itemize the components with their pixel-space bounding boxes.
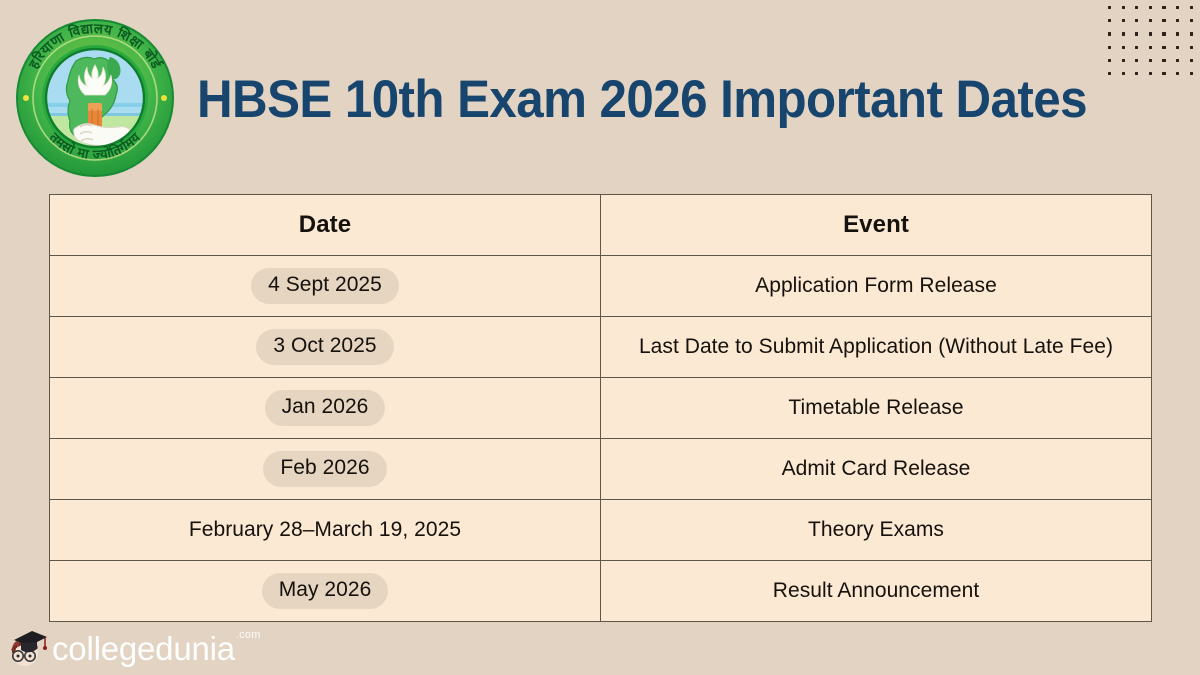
cell-event: Last Date to Submit Application (Without… <box>601 317 1152 378</box>
table-header-row: Date Event <box>50 195 1152 256</box>
cell-date: February 28–March 19, 2025 <box>50 500 601 561</box>
header: हरियाणा विद्यालय शिक्षा बोर्ड तमसो मा ज्… <box>0 0 1200 194</box>
table-row: 4 Sept 2025 Application Form Release <box>50 256 1152 317</box>
graduate-mascot-icon <box>8 626 48 668</box>
table-row: Jan 2026 Timetable Release <box>50 378 1152 439</box>
cell-event: Result Announcement <box>601 561 1152 622</box>
cell-event: Application Form Release <box>601 256 1152 317</box>
hbse-board-logo-icon: हरियाणा विद्यालय शिक्षा बोर्ड तमसो मा ज्… <box>14 17 176 179</box>
cell-date: Jan 2026 <box>50 378 601 439</box>
date-pill: 3 Oct 2025 <box>256 329 393 364</box>
cell-date: May 2026 <box>50 561 601 622</box>
date-pill: 4 Sept 2025 <box>251 268 399 303</box>
important-dates-table: Date Event 4 Sept 2025 Application Form … <box>49 194 1152 622</box>
brand-footer: collegedunia .com <box>8 624 260 670</box>
cell-event: Theory Exams <box>601 500 1152 561</box>
cell-event: Admit Card Release <box>601 439 1152 500</box>
table-body: 4 Sept 2025 Application Form Release 3 O… <box>50 256 1152 622</box>
table-row: February 28–March 19, 2025 Theory Exams <box>50 500 1152 561</box>
date-pill: May 2026 <box>262 573 389 608</box>
table-row: Feb 2026 Admit Card Release <box>50 439 1152 500</box>
cell-date: Feb 2026 <box>50 439 601 500</box>
table-row: 3 Oct 2025 Last Date to Submit Applicati… <box>50 317 1152 378</box>
cell-date: 4 Sept 2025 <box>50 256 601 317</box>
date-text: February 28–March 19, 2025 <box>189 518 461 542</box>
date-pill: Feb 2026 <box>263 451 386 486</box>
cell-event: Timetable Release <box>601 378 1152 439</box>
column-header-date: Date <box>50 195 601 256</box>
table-row: May 2026 Result Announcement <box>50 561 1152 622</box>
cell-date: 3 Oct 2025 <box>50 317 601 378</box>
date-pill: Jan 2026 <box>265 390 386 425</box>
slide-root: { "theme": { "background": "#e2d3c2", "t… <box>0 0 1200 675</box>
brand-tld: .com <box>236 629 261 641</box>
table-head: Date Event <box>50 195 1152 256</box>
brand-name: collegedunia <box>52 632 235 665</box>
column-header-event: Event <box>601 195 1152 256</box>
page-title: HBSE 10th Exam 2026 Important Dates <box>197 64 1087 136</box>
